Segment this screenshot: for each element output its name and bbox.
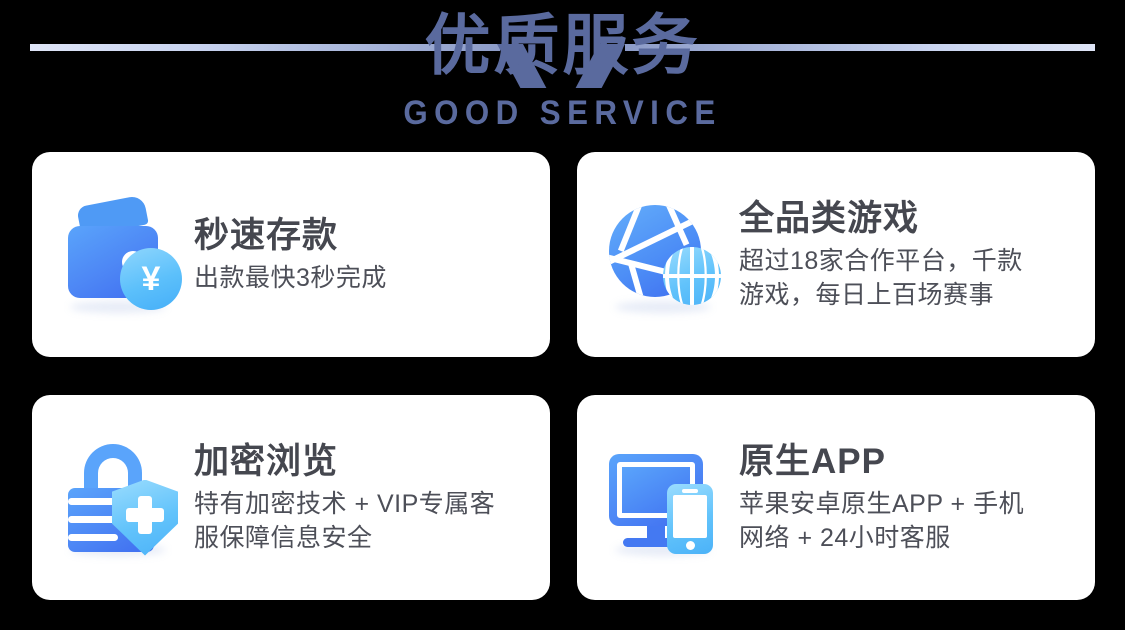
card-subtitle: 出款最快3秒完成: [194, 261, 528, 295]
feature-card-encryption[interactable]: 加密浏览 特有加密技术 + VIP专属客服保障信息安全: [32, 395, 550, 600]
card-text-block: 原生APP 苹果安卓原生APP + 手机网络 + 24小时客服: [739, 441, 1073, 555]
soccer-basketball-icon: [605, 195, 725, 315]
lock-shield-icon: [60, 438, 180, 558]
card-subtitle: 超过18家合作平台，千款游戏，每日上百场赛事: [739, 244, 1073, 312]
feature-card-deposit[interactable]: ¥ 秒速存款 出款最快3秒完成: [32, 152, 550, 357]
feature-card-games[interactable]: 全品类游戏 超过18家合作平台，千款游戏，每日上百场赛事: [577, 152, 1095, 357]
page-title: 优质服务: [0, 8, 1125, 82]
card-subtitle: 苹果安卓原生APP + 手机网络 + 24小时客服: [739, 487, 1073, 555]
wallet-yen-icon: ¥: [60, 195, 180, 315]
promo-banner: 优质服务 GOOD SERVICE ¥ 秒速存款 出款最快3秒完成: [0, 0, 1125, 630]
card-text-block: 秒速存款 出款最快3秒完成: [194, 215, 528, 295]
monitor-phone-icon: [605, 438, 725, 558]
feature-card-grid: ¥ 秒速存款 出款最快3秒完成: [32, 152, 1095, 600]
cross-icon: [126, 508, 164, 522]
card-subtitle: 特有加密技术 + VIP专属客服保障信息安全: [194, 487, 528, 555]
lock-slot: [68, 534, 118, 541]
yen-symbol: ¥: [120, 248, 182, 310]
section-header: 优质服务 GOOD SERVICE: [0, 0, 1125, 148]
card-title: 加密浏览: [194, 441, 528, 483]
phone-speaker-icon: [682, 489, 698, 493]
phone-home-button-icon: [686, 541, 695, 550]
feature-card-native-app[interactable]: 原生APP 苹果安卓原生APP + 手机网络 + 24小时客服: [577, 395, 1095, 600]
basketball-icon: [663, 247, 721, 305]
lock-slot: [68, 498, 118, 505]
card-text-block: 全品类游戏 超过18家合作平台，千款游戏，每日上百场赛事: [739, 198, 1073, 312]
card-text-block: 加密浏览 特有加密技术 + VIP专属客服保障信息安全: [194, 441, 528, 555]
card-title: 原生APP: [739, 441, 1073, 483]
card-title: 秒速存款: [194, 215, 528, 257]
basketball-line: [677, 247, 707, 305]
card-title: 全品类游戏: [739, 198, 1073, 240]
page-subtitle: GOOD SERVICE: [45, 94, 1080, 132]
phone-screen-icon: [673, 495, 707, 538]
